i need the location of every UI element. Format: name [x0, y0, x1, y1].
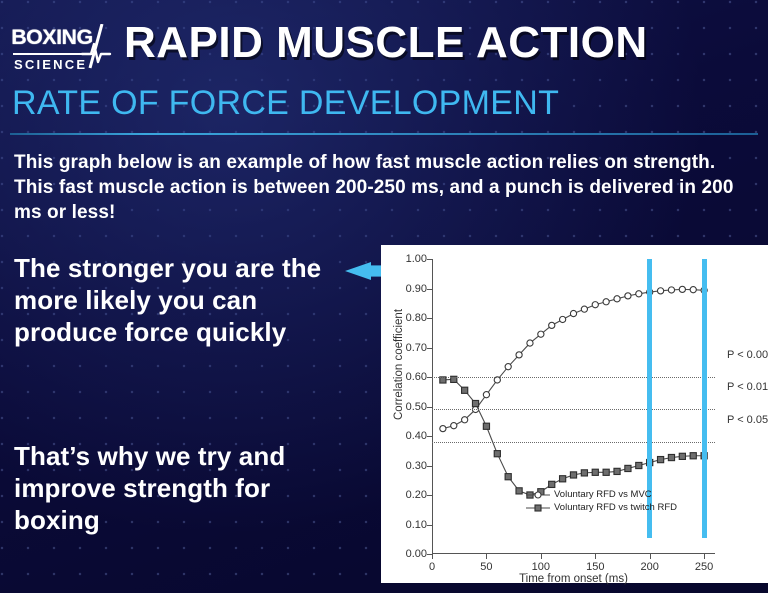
chart-panel: Correlation coefficient Time from onset … [381, 245, 768, 583]
chart-threshold-line [432, 442, 715, 443]
chart-data-point [625, 293, 631, 299]
chart-data-point [603, 299, 609, 305]
chart-y-tick [427, 407, 432, 408]
chart-x-tick-label: 0 [429, 561, 435, 573]
chart-data-point [581, 306, 587, 312]
chart-legend-label: Voluntary RFD vs twitch RFD [554, 501, 677, 514]
chart-y-tick-label: 0.80 [406, 312, 427, 324]
chart-data-point [570, 310, 576, 316]
chart-pvalue-label: P < 0.01 [727, 381, 768, 393]
open-circle-marker-icon [526, 490, 550, 500]
chart-data-point [440, 426, 446, 432]
chart-data-point [483, 392, 489, 398]
chart-data-point [549, 481, 555, 487]
chart-legend: Voluntary RFD vs MVCVoluntary RFD vs twi… [526, 488, 677, 514]
chart-data-point [592, 302, 598, 308]
chart-legend-item: Voluntary RFD vs MVC [526, 488, 677, 501]
heartbeat-icon [80, 24, 116, 74]
chart-data-point [505, 364, 511, 370]
chart-data-point [472, 400, 478, 406]
chart-data-point [668, 287, 674, 293]
chart-x-tick-label: 250 [695, 561, 713, 573]
chart-y-tick-label: 0.00 [406, 548, 427, 560]
chart-data-point [614, 468, 620, 474]
chart-data-point [570, 472, 576, 478]
chart-legend-item: Voluntary RFD vs twitch RFD [526, 501, 677, 514]
chart-data-point [560, 476, 566, 482]
chart-data-point [614, 296, 620, 302]
chart-x-tick-label: 100 [532, 561, 550, 573]
chart-x-tick-label: 150 [586, 561, 604, 573]
chart-y-tick-label: 0.60 [406, 371, 427, 383]
chart-y-tick-label: 0.20 [406, 489, 427, 501]
chart-threshold-line [432, 409, 715, 410]
chart-y-tick [427, 318, 432, 319]
chart-data-point [538, 331, 544, 337]
chart-y-tick-label: 0.40 [406, 430, 427, 442]
chart-data-point [527, 340, 533, 346]
chart-y-tick [427, 289, 432, 290]
chart-y-axis-title: Correlation coefficient [393, 309, 405, 420]
intro-paragraph: This graph below is an example of how fa… [14, 150, 748, 225]
chart-data-point [679, 453, 685, 459]
chart-data-point [636, 291, 642, 297]
chart-y-tick [427, 348, 432, 349]
chart-data-point [494, 451, 500, 457]
chart-data-point [690, 453, 696, 459]
chart-x-tick-label: 50 [480, 561, 492, 573]
chart-data-point [657, 288, 663, 294]
chart-x-tick [541, 554, 542, 559]
chart-data-point [505, 474, 511, 480]
chart-data-point [603, 469, 609, 475]
chart-data-point [668, 454, 674, 460]
chart-y-tick [427, 466, 432, 467]
header-divider [10, 133, 758, 135]
chart-x-tick [432, 554, 433, 559]
chart-data-point [679, 286, 685, 292]
callout-text-2: That’s why we try and improve strength f… [14, 440, 344, 536]
chart-y-tick-label: 0.30 [406, 460, 427, 472]
chart-y-tick-label: 0.10 [406, 519, 427, 531]
chart-y-tick-label: 0.90 [406, 283, 427, 295]
chart-y-tick-label: 0.50 [406, 401, 427, 413]
chart-pvalue-label: P < 0.001 [727, 349, 768, 361]
chart-legend-label: Voluntary RFD vs MVC [554, 488, 652, 501]
chart-data-point [625, 465, 631, 471]
chart-x-tick [595, 554, 596, 559]
chart-x-axis-line [432, 553, 715, 554]
slide-header: BOXING SCIENCE RAPID MUSCLE ACTION RATE … [0, 0, 768, 136]
chart-data-point [483, 423, 489, 429]
boxing-science-logo: BOXING SCIENCE [12, 26, 116, 78]
chart-y-tick [427, 436, 432, 437]
page-subtitle: RATE OF FORCE DEVELOPMENT [12, 84, 559, 123]
chart-y-tick [427, 525, 432, 526]
chart-pvalue-label: P < 0.05 [727, 414, 768, 426]
chart-y-tick-label: 1.00 [406, 253, 427, 265]
page-title: RAPID MUSCLE ACTION [124, 18, 648, 68]
chart-data-point [560, 316, 566, 322]
chart-y-tick [427, 259, 432, 260]
chart-data-point [516, 488, 522, 494]
chart-threshold-line [432, 377, 715, 378]
chart-y-axis-line [432, 259, 433, 554]
chart-y-tick-label: 0.70 [406, 342, 427, 354]
chart-data-point [657, 457, 663, 463]
chart-data-point [516, 352, 522, 358]
chart-data-point [690, 287, 696, 293]
chart-x-axis-title: Time from onset (ms) [432, 573, 715, 585]
marker-250ms [702, 259, 707, 538]
chart-x-tick [486, 554, 487, 559]
chart-data-point [462, 417, 468, 423]
chart-x-tick [704, 554, 705, 559]
chart-data-point [592, 469, 598, 475]
chart-data-point [462, 387, 468, 393]
chart-x-tick [650, 554, 651, 559]
chart-y-tick [427, 495, 432, 496]
chart-data-point [636, 462, 642, 468]
callout-text-1: The stronger you are the more likely you… [14, 252, 344, 348]
logo-text-science: SCIENCE [14, 57, 87, 72]
filled-square-marker-icon [526, 503, 550, 513]
chart-data-point [549, 322, 555, 328]
chart-x-tick-label: 200 [641, 561, 659, 573]
chart-data-point [451, 423, 457, 429]
chart-data-point [581, 470, 587, 476]
